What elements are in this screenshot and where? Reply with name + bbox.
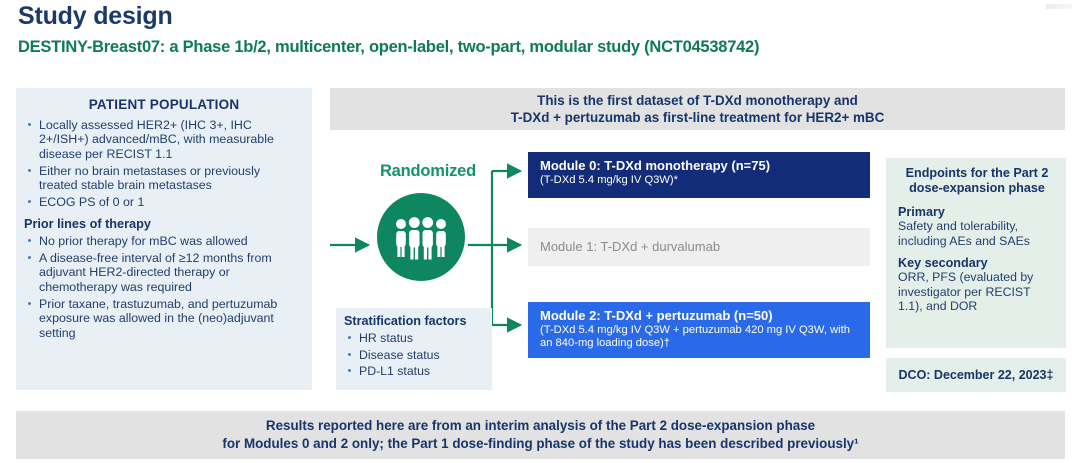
patient-population-title: PATIENT POPULATION (16, 97, 312, 112)
patient-population-panel: PATIENT POPULATION Locally assessed HER2… (16, 88, 312, 390)
corner-mark-decoration (1046, 4, 1072, 9)
list-item: A disease-free interval of ≥12 months fr… (24, 251, 302, 294)
endpoints-title: Endpoints for the Part 2 dose-expansion … (898, 166, 1056, 196)
page-title: Study design (18, 2, 173, 31)
endpoints-panel: Endpoints for the Part 2 dose-expansion … (886, 158, 1066, 348)
prior-lines-heading: Prior lines of therapy (24, 217, 302, 231)
module-0-subtitle: (T-DXd 5.4 mg/kg IV Q3W)* (540, 174, 860, 187)
prior-lines-list: No prior therapy for mBC was allowed A d… (24, 234, 302, 340)
list-item: Disease status (344, 348, 484, 364)
primary-endpoint-text: Safety and tolerability, including AEs a… (898, 219, 1056, 248)
primary-endpoint-heading: Primary (898, 205, 1056, 219)
module-2-subtitle: (T-DXd 5.4 mg/kg IV Q3W + pertuzumab 420… (540, 324, 860, 351)
list-item: HR status (344, 331, 484, 347)
module-0-box[interactable]: Module 0: T-DXd monotherapy (n=75) (T-DX… (528, 152, 870, 198)
module-1-title: Module 1: T-DXd + durvalumab (540, 239, 720, 255)
stratification-factors-panel: Stratification factors HR status Disease… (336, 308, 492, 390)
list-item: Locally assessed HER2+ (IHC 3+, IHC 2+/I… (24, 118, 302, 161)
slide-root: Study design DESTINY-Breast07: a Phase 1… (0, 0, 1080, 463)
patient-population-criteria-list: Locally assessed HER2+ (IHC 3+, IHC 2+/I… (24, 118, 302, 210)
secondary-endpoint-heading: Key secondary (898, 256, 1056, 270)
list-item: Prior taxane, trastuzumab, and pertuzuma… (24, 297, 302, 340)
endpoints-title-line1: Endpoints for the Part 2 (898, 166, 1056, 181)
list-item: PD-L1 status (344, 364, 484, 380)
top-banner-line2: T-DXd + pertuzumab as first-line treatme… (511, 109, 885, 126)
list-item: ECOG PS of 0 or 1 (24, 195, 302, 209)
stratification-list: HR status Disease status PD-L1 status (344, 331, 484, 380)
endpoints-title-line2: dose-expansion phase (898, 181, 1056, 196)
list-item: No prior therapy for mBC was allowed (24, 234, 302, 248)
secondary-endpoint-text: ORR, PFS (evaluated by investigator per … (898, 270, 1056, 314)
top-banner: This is the first dataset of T-DXd monot… (330, 88, 1065, 130)
stratification-heading: Stratification factors (344, 314, 484, 328)
dco-text: DCO: December 22, 2023‡ (899, 368, 1054, 382)
bottom-banner-line1: Results reported here are from an interi… (266, 417, 815, 435)
patient-population-body: Locally assessed HER2+ (IHC 3+, IHC 2+/I… (16, 118, 312, 340)
module-1-box[interactable]: Module 1: T-DXd + durvalumab (528, 228, 870, 266)
module-0-title: Module 0: T-DXd monotherapy (n=75) (540, 158, 860, 174)
dco-box: DCO: December 22, 2023‡ (886, 358, 1066, 392)
module-2-title: Module 2: T-DXd + pertuzumab (n=50) (540, 308, 860, 324)
page-subtitle: DESTINY-Breast07: a Phase 1b/2, multicen… (18, 38, 759, 57)
list-item: Either no brain metastases or previously… (24, 164, 302, 193)
top-banner-line1: This is the first dataset of T-DXd monot… (537, 92, 858, 109)
bottom-banner: Results reported here are from an interi… (16, 411, 1065, 459)
bottom-banner-line2: for Modules 0 and 2 only; the Part 1 dos… (222, 435, 858, 453)
module-2-box[interactable]: Module 2: T-DXd + pertuzumab (n=50) (T-D… (528, 302, 870, 358)
